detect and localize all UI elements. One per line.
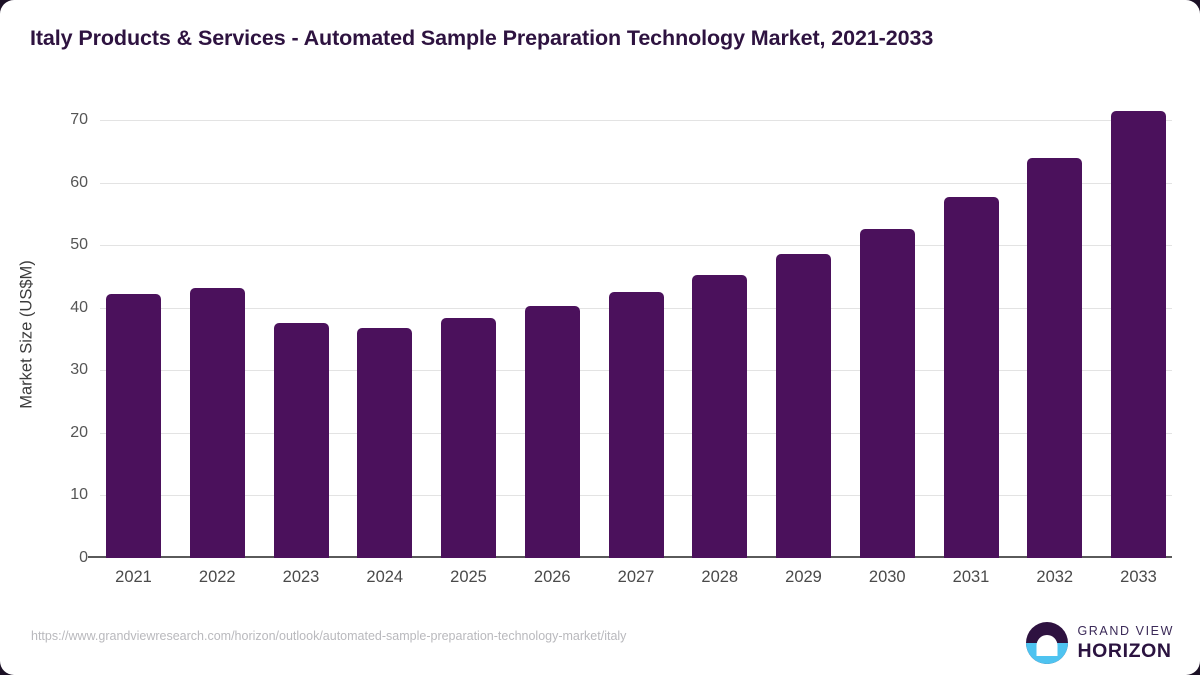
logo-wordmark: GRAND VIEW HORIZON (1077, 625, 1174, 661)
bar-column[interactable]: 2021 (106, 110, 161, 558)
y-axis-tick-label: 30 (18, 361, 88, 379)
bar[interactable] (190, 288, 245, 558)
x-axis-tick-label: 2029 (785, 568, 822, 587)
bar[interactable] (357, 328, 412, 558)
bar[interactable] (860, 229, 915, 558)
chart-area: Market Size (US$M) 010203040506070 20212… (0, 0, 1200, 675)
bar-column[interactable]: 2026 (525, 110, 580, 558)
bar-series: 2021202220232024202520262027202820292030… (100, 110, 1172, 558)
x-axis-tick-label: 2021 (115, 568, 152, 587)
bar[interactable] (944, 197, 999, 558)
grand-view-horizon-logo[interactable]: GRAND VIEW HORIZON (1026, 620, 1174, 666)
x-axis-tick-label: 2030 (869, 568, 906, 587)
x-axis-tick-label: 2027 (618, 568, 655, 587)
x-axis-tick-label: 2025 (450, 568, 487, 587)
x-axis-tick-label: 2023 (283, 568, 320, 587)
bar-column[interactable]: 2025 (441, 110, 496, 558)
x-axis-tick-label: 2026 (534, 568, 571, 587)
y-axis-tick-label: 20 (18, 424, 88, 442)
bar[interactable] (776, 254, 831, 558)
bar-column[interactable]: 2024 (357, 110, 412, 558)
y-axis-tick-label: 50 (18, 236, 88, 254)
horizon-sun-icon (1026, 622, 1068, 664)
bar[interactable] (274, 323, 329, 558)
bar-column[interactable]: 2033 (1111, 110, 1166, 558)
bar[interactable] (1027, 158, 1082, 558)
bar-column[interactable]: 2022 (190, 110, 245, 558)
y-axis-tick-label: 70 (18, 111, 88, 129)
bar[interactable] (106, 294, 161, 558)
x-axis-tick-label: 2033 (1120, 568, 1157, 587)
plot-region: 010203040506070 202120222023202420252026… (100, 110, 1172, 558)
y-axis-tick-label: 10 (18, 486, 88, 504)
bar[interactable] (692, 275, 747, 558)
y-axis-tick-label: 40 (18, 299, 88, 317)
bar-column[interactable]: 2028 (692, 110, 747, 558)
logo-ray-one (1039, 648, 1056, 650)
logo-ray-two (1042, 652, 1053, 654)
x-axis-tick-label: 2031 (953, 568, 990, 587)
bar-column[interactable]: 2030 (860, 110, 915, 558)
bar[interactable] (441, 318, 496, 558)
x-axis-tick-label: 2024 (366, 568, 403, 587)
bar-column[interactable]: 2032 (1027, 110, 1082, 558)
bar-column[interactable]: 2031 (944, 110, 999, 558)
bar[interactable] (525, 306, 580, 558)
source-url[interactable]: https://www.grandviewresearch.com/horizo… (31, 629, 626, 643)
x-axis-tick-label: 2032 (1036, 568, 1073, 587)
x-axis-tick-label: 2028 (701, 568, 738, 587)
x-axis-tick-label: 2022 (199, 568, 236, 587)
bar-column[interactable]: 2029 (776, 110, 831, 558)
logo-text-bottom: HORIZON (1077, 642, 1174, 662)
y-axis-tick-label: 0 (18, 549, 88, 567)
bar-column[interactable]: 2023 (274, 110, 329, 558)
bar[interactable] (1111, 111, 1166, 558)
bar[interactable] (609, 292, 664, 558)
bar-column[interactable]: 2027 (609, 110, 664, 558)
chart-card: Italy Products & Services - Automated Sa… (0, 0, 1200, 675)
logo-text-top: GRAND VIEW (1077, 625, 1174, 638)
y-axis-tick-label: 60 (18, 174, 88, 192)
